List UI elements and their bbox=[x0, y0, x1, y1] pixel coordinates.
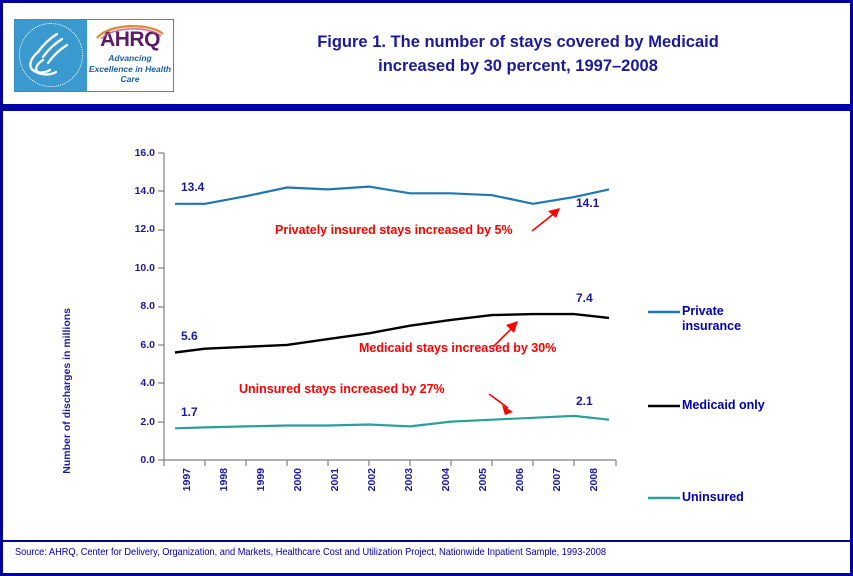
point-label-private-end: 14.1 bbox=[576, 196, 599, 210]
point-label-uninsured-start: 1.7 bbox=[181, 405, 198, 419]
header-divider bbox=[3, 104, 850, 111]
ahrq-logo: AHRQ Advancing Excellence in Health Care bbox=[14, 19, 174, 92]
point-label-uninsured-end: 2.1 bbox=[576, 394, 593, 408]
page-title-line-2: increased by 30 percent, 1997–2008 bbox=[198, 55, 838, 79]
point-label-private-start: 13.4 bbox=[181, 180, 204, 194]
ahrq-wordmark-panel: AHRQ Advancing Excellence in Health Care bbox=[87, 20, 173, 91]
page-title-line-1: Figure 1. The number of stays covered by… bbox=[198, 31, 838, 55]
annotation-uninsured: Uninsured stays increased by 27% bbox=[239, 382, 445, 396]
legend-item-uninsured[interactable]: Uninsured bbox=[682, 490, 744, 505]
source-note: Source: AHRQ, Center for Delivery, Organ… bbox=[15, 546, 606, 558]
legend-item-medicaid-only[interactable]: Medicaid only bbox=[682, 398, 765, 413]
annotation-medicaid-only: Medicaid stays increased by 30% bbox=[359, 341, 556, 355]
annotation-arrow-private bbox=[532, 208, 560, 231]
ahrq-tagline: Advancing Excellence in Health Care bbox=[87, 53, 173, 85]
point-label-medicaid-start: 5.6 bbox=[181, 329, 198, 343]
annotation-private-insurance: Privately insured stays increased by 5% bbox=[275, 223, 513, 237]
annotation-arrow-uninsured bbox=[489, 394, 513, 415]
x-tick-marks bbox=[164, 460, 616, 466]
footer-divider bbox=[3, 540, 850, 542]
figure-page: AHRQ Advancing Excellence in Health Care… bbox=[0, 0, 853, 576]
series-line-uninsured bbox=[175, 416, 609, 428]
series-line-private-insurance bbox=[175, 187, 609, 204]
eagle-glyph bbox=[23, 30, 79, 82]
hhs-eagle-seal-icon bbox=[15, 20, 87, 91]
point-label-medicaid-end: 7.4 bbox=[576, 291, 593, 305]
header: AHRQ Advancing Excellence in Health Care… bbox=[3, 3, 850, 101]
chart-container: Number of discharges in millions 16.0 14… bbox=[3, 113, 850, 528]
ahrq-arc-icon bbox=[95, 22, 167, 40]
page-title: Figure 1. The number of stays covered by… bbox=[198, 31, 838, 79]
y-tick-marks bbox=[158, 153, 164, 460]
legend-item-private-insurance[interactable]: Private insurance bbox=[682, 304, 741, 334]
